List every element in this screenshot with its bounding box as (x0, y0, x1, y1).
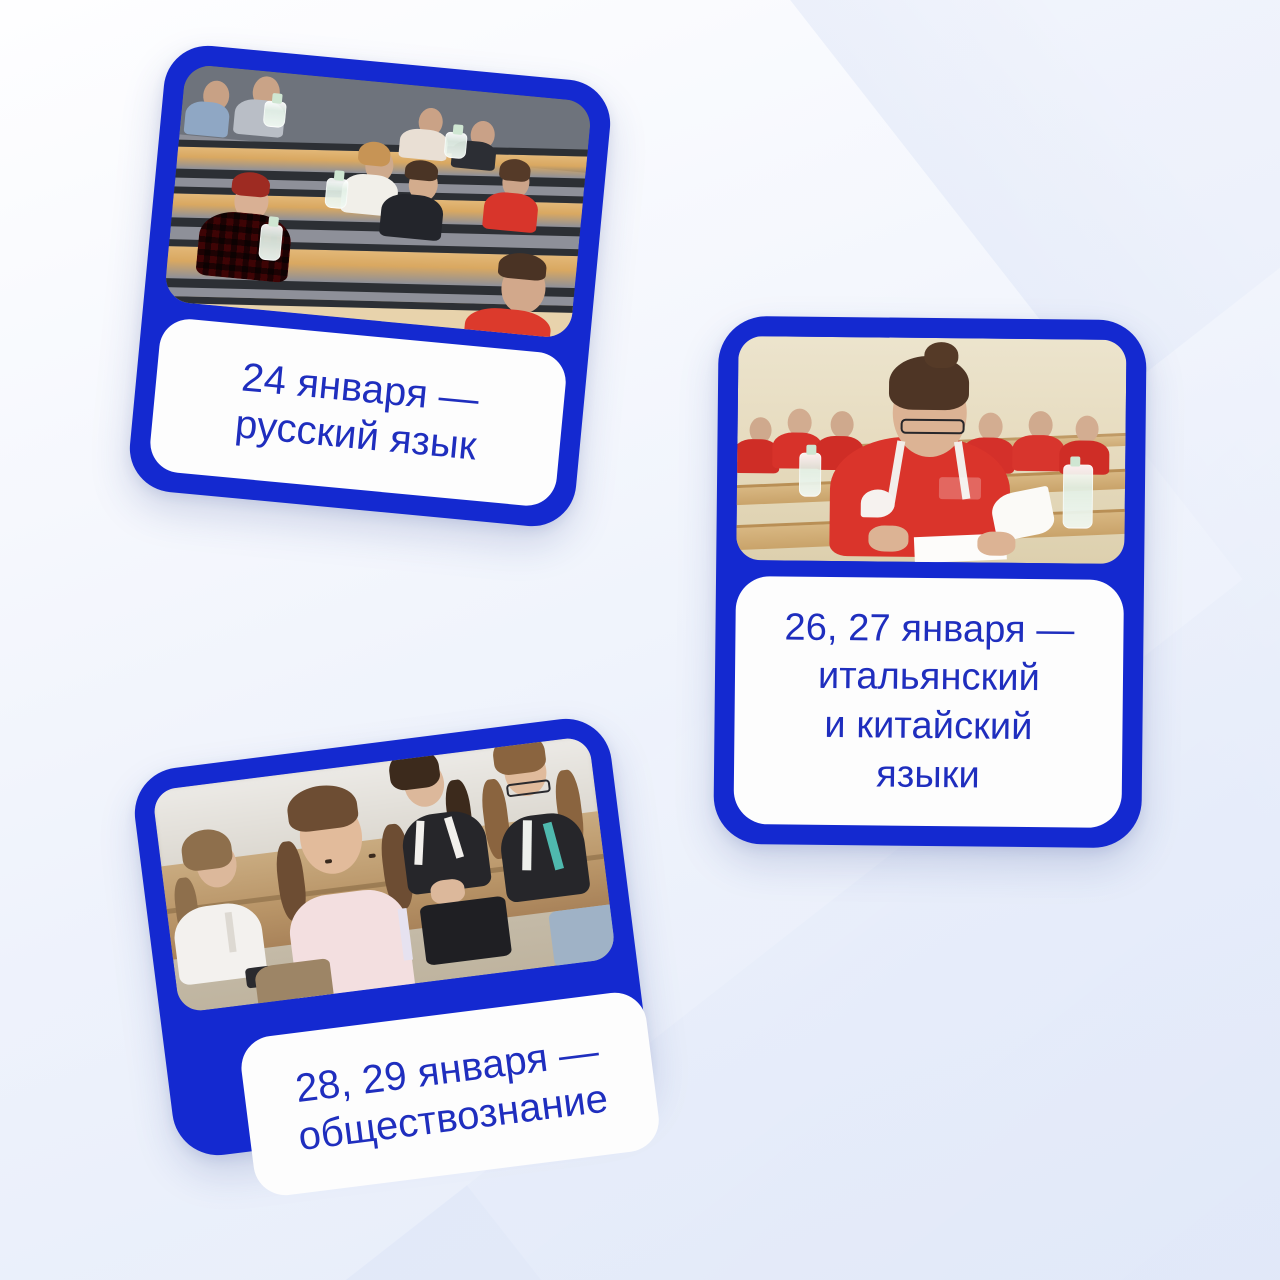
card-social[interactable]: 28, 29 января — обществознание (129, 713, 654, 1160)
lecture-hall-photo (164, 64, 593, 339)
card-social-caption: 28, 29 января — обществознание (238, 989, 663, 1199)
poster-canvas: 24 января — русский язык (0, 0, 1280, 1280)
card-russian[interactable]: 24 января — русский язык (126, 42, 614, 530)
caption-line-1: 26, 27 января — (784, 603, 1075, 655)
caption-line-4: языки (783, 749, 1074, 801)
exam-room-photo (736, 336, 1126, 564)
card-languages-caption: 26, 27 января — итальянский и китайский … (733, 576, 1124, 828)
card-russian-caption: 24 января — русский язык (148, 317, 569, 509)
caption-line-2: итальянский (784, 652, 1075, 704)
card-languages[interactable]: 26, 27 января — итальянский и китайский … (713, 316, 1147, 848)
caption-line-3: и китайский (783, 700, 1074, 752)
students-group-photo (152, 736, 617, 1013)
